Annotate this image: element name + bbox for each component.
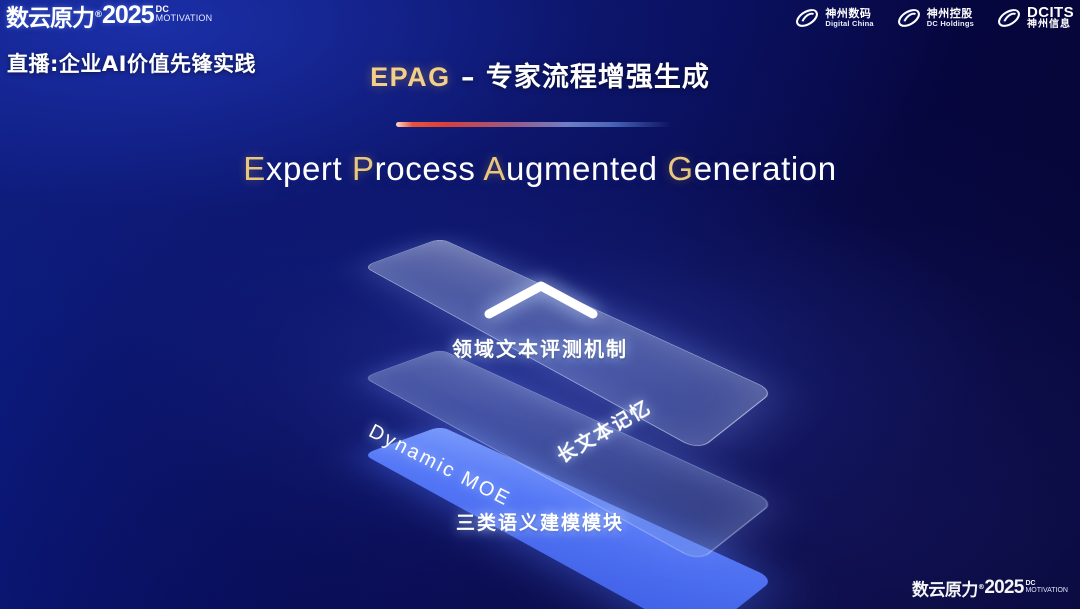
title-dash: –	[451, 62, 486, 93]
partner-name-en: Digital China	[825, 20, 873, 28]
subtitle-cap-p: P	[352, 150, 375, 187]
subtitle-rest-generation: eneration	[694, 150, 837, 187]
partner-text: 神州数码 Digital China	[825, 8, 873, 27]
brand-name-cn: 数云原力®	[6, 2, 102, 32]
watermark-dc-line1: DC	[1025, 580, 1068, 587]
brand-registered-mark: ®	[94, 10, 102, 20]
chevron-up-icon	[481, 276, 601, 322]
partner-logo-group: 神州数码 Digital China 神州控股 DC Holdings	[794, 5, 1074, 31]
subtitle-cap-a: A	[483, 150, 506, 187]
partner-name-en: DCITS	[1027, 5, 1074, 20]
watermark-dc-motivation: DC MOTIVATION	[1025, 578, 1068, 594]
partner-logo-dc-holdings: 神州控股 DC Holdings	[896, 5, 974, 31]
subtitle-rest-augmented: ugmented	[506, 150, 667, 187]
title-acronym: EPAG	[370, 62, 451, 92]
watermark-name-cn: 数云原力®	[912, 578, 985, 601]
slide-stage: 数云原力® 2025 DC MOTIVATION 直播:企业AI价值先锋实践 神…	[0, 0, 1080, 609]
brand-dc-motivation: DC MOTIVATION	[156, 2, 213, 23]
partner-name-cn: 神州信息	[1027, 20, 1074, 31]
brand-year: 2025	[102, 2, 154, 28]
watermark-dc-line2: MOTIVATION	[1025, 587, 1068, 594]
swirl-logo-icon	[896, 5, 922, 31]
brand-watermark: 数云原力® 2025 DC MOTIVATION	[912, 578, 1068, 601]
brand-logo: 数云原力® 2025 DC MOTIVATION	[6, 2, 212, 32]
partner-logo-dcits: DCITS 神州信息	[996, 5, 1074, 31]
live-stream-label: 直播:企业AI价值先锋实践	[7, 48, 256, 78]
page-subtitle: Expert Process Augmented Generation	[0, 150, 1080, 188]
partner-logo-digital-china: 神州数码 Digital China	[794, 5, 873, 31]
diagram-layer-top-label: 领域文本评测机制	[0, 333, 1080, 362]
partner-text: DCITS 神州信息	[1027, 5, 1074, 31]
subtitle-cap-e: E	[243, 150, 266, 187]
brand-dc-line2: MOTIVATION	[156, 14, 213, 23]
swirl-logo-icon	[996, 5, 1022, 31]
subtitle-rest-process: rocess	[375, 150, 484, 187]
title-chinese: 专家流程增强生成	[486, 62, 710, 93]
subtitle-cap-g: G	[667, 150, 693, 187]
partner-name-en: DC Holdings	[927, 20, 974, 28]
watermark-year: 2025	[984, 578, 1023, 597]
diagram-layer-bottom-label: 三类语义建模模块	[0, 508, 1080, 535]
subtitle-rest-expert: xpert	[266, 150, 352, 187]
title-divider	[396, 122, 672, 127]
swirl-logo-icon	[794, 5, 820, 31]
partner-text: 神州控股 DC Holdings	[927, 8, 974, 27]
